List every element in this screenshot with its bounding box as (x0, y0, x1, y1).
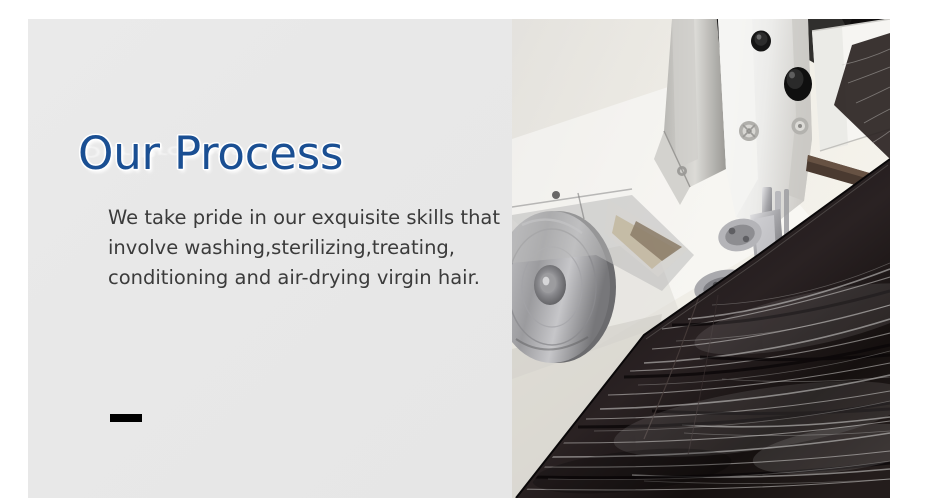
process-description-line-3: conditioning and air-drying virgin hair. (108, 263, 508, 293)
accent-rule (110, 414, 142, 422)
process-photo (512, 19, 890, 498)
process-description: We take pride in our exquisite skills th… (108, 203, 508, 293)
process-description-line-1: We take pride in our exquisite skills th… (108, 203, 508, 233)
left-text-panel: Our Process Our Process We take pride in… (28, 19, 514, 498)
our-process-banner: Our Process Our Process We take pride in… (0, 0, 930, 498)
process-photo-illustration (512, 19, 890, 498)
page-title: Our Process (78, 127, 343, 181)
process-description-line-2: involve washing,sterilizing,treating, (108, 233, 508, 263)
